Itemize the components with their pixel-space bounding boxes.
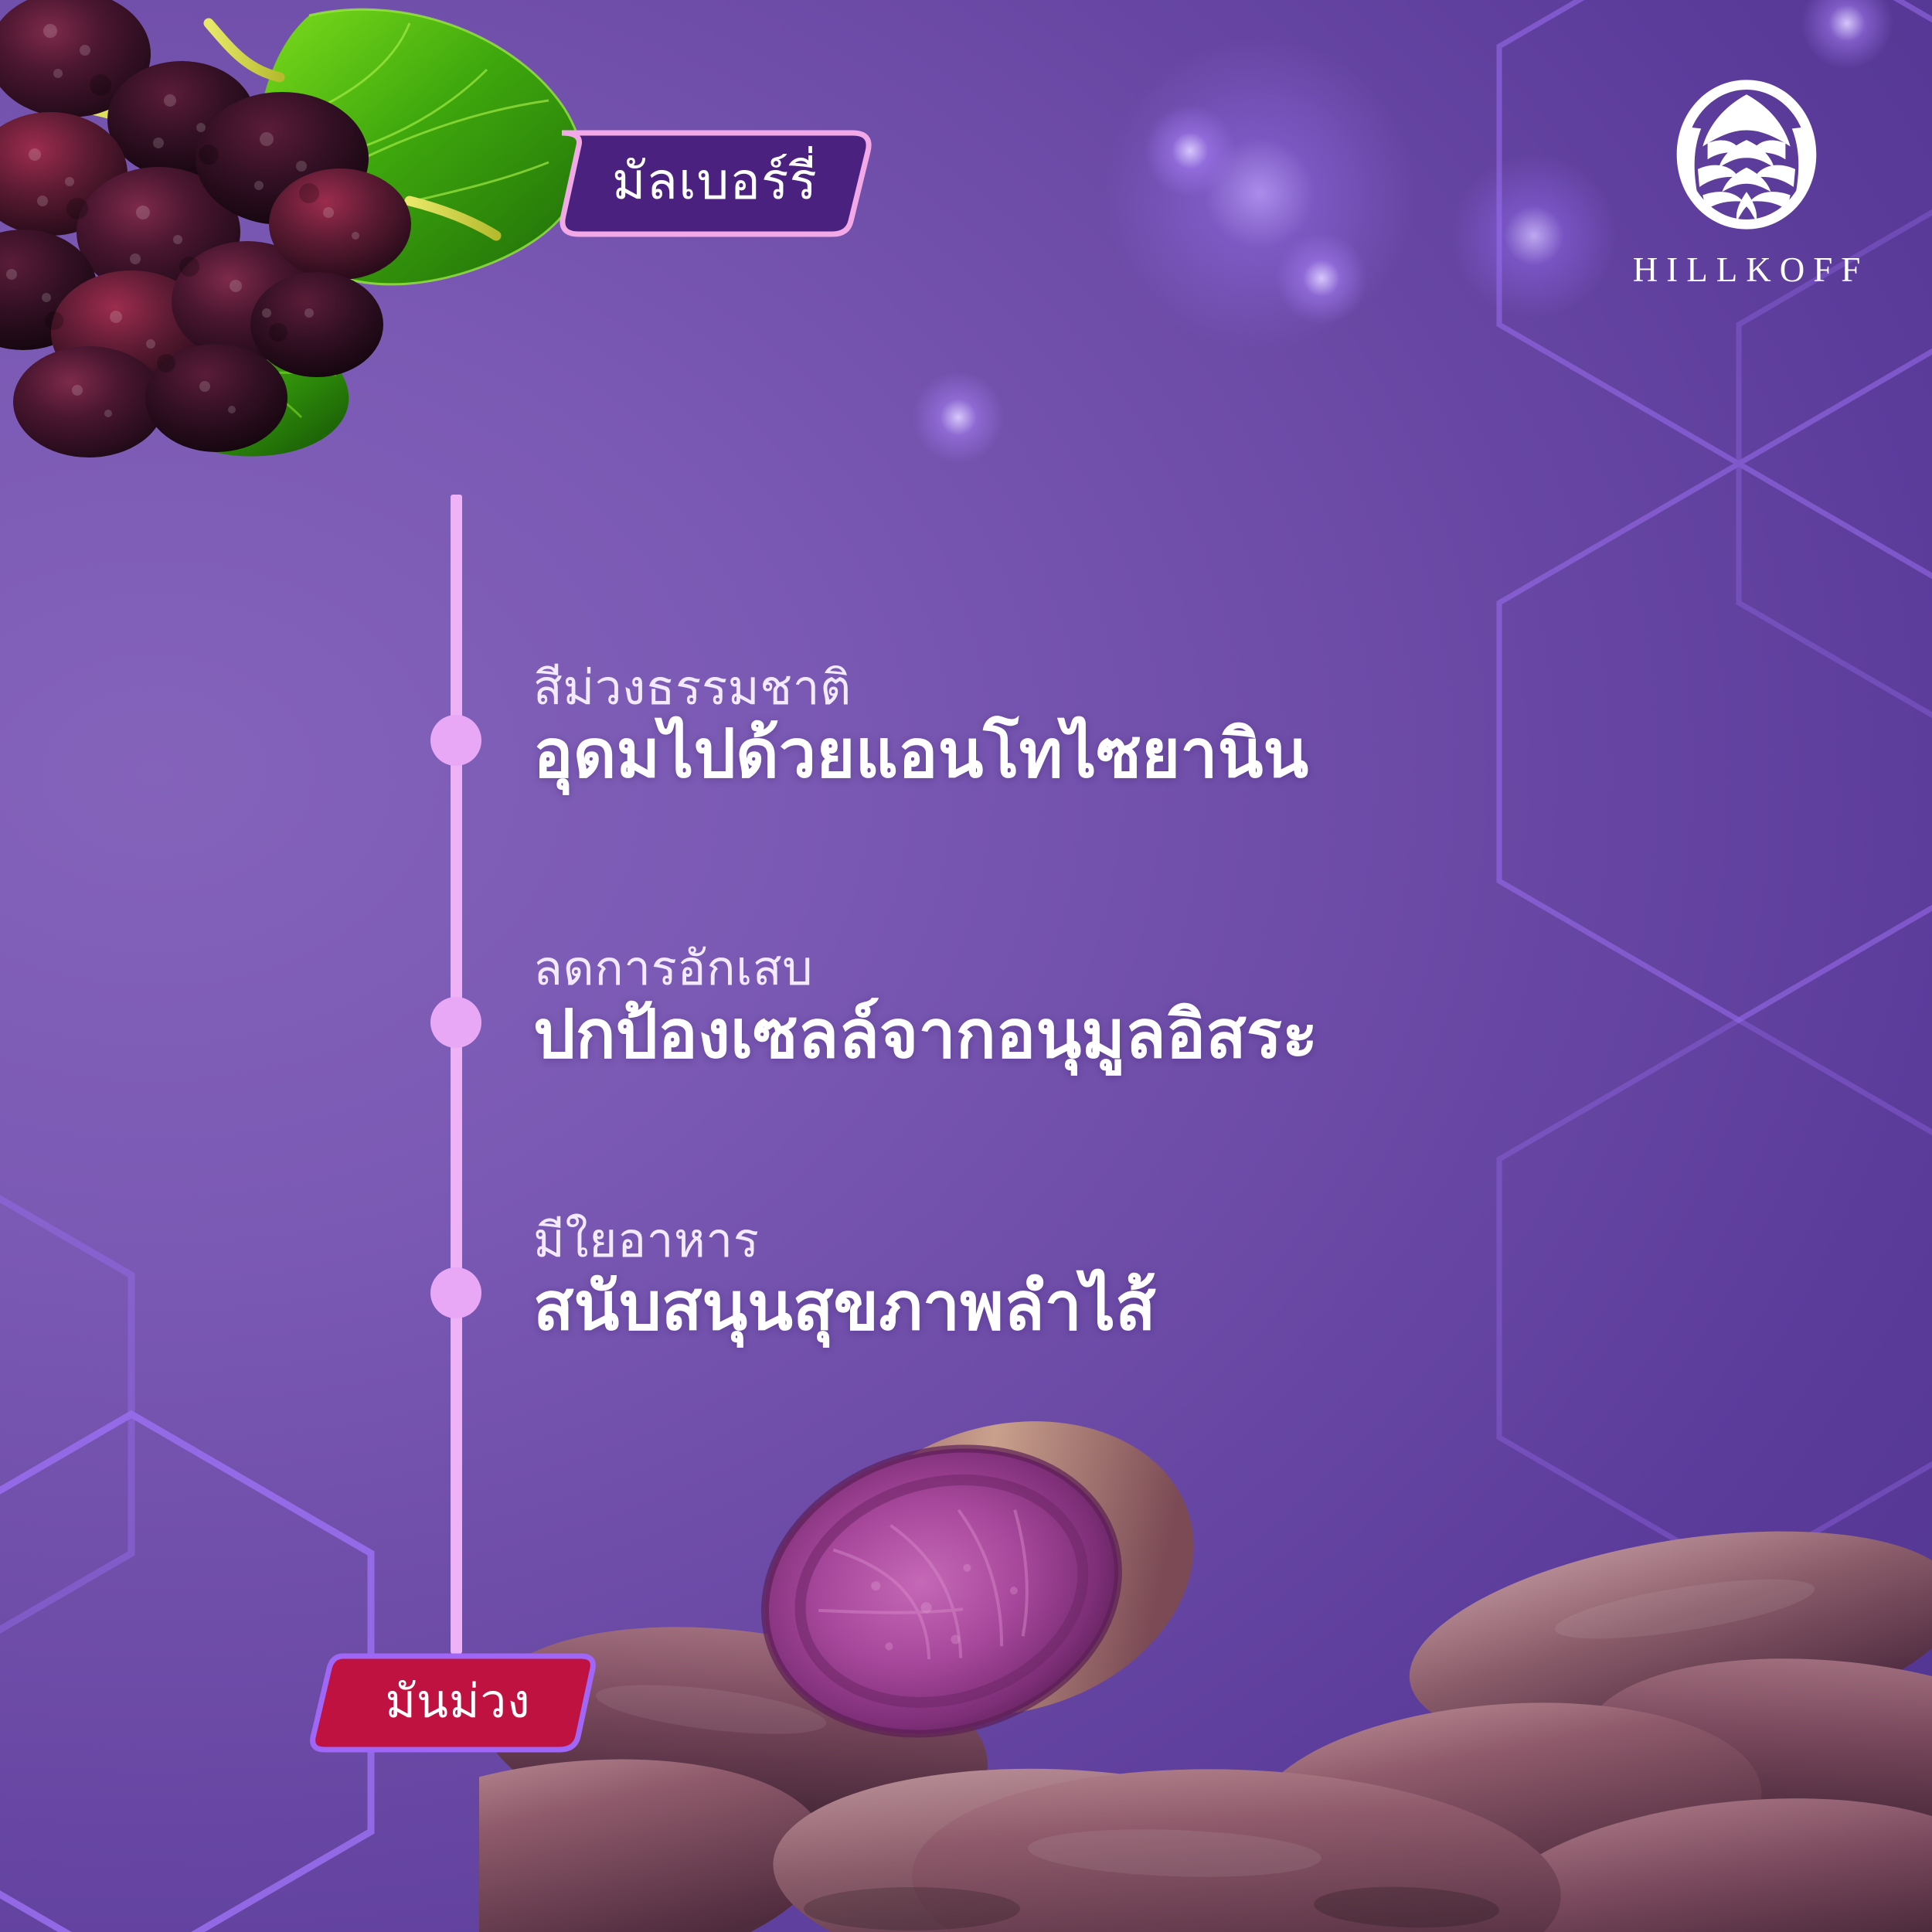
promo-graphic: HILLKOFF มัลเบอร์รี่ มันม่วง สีม่วงธรรมช… [0,0,1932,1932]
hillkoff-emblem-icon [1665,73,1828,236]
timeline-line [451,495,462,1654]
bokeh-glow-small-3 [912,371,1005,464]
bokeh-glow-small-4 [1801,0,1893,70]
bokeh-glow-small-1 [1144,104,1236,197]
badge-sweet-potato[interactable]: มันม่วง [309,1650,607,1756]
timeline-dot-1 [430,715,481,766]
feature-2-headline: ปกป้องเซลล์จากอนุมูลอิสระ [533,998,1318,1072]
purple-sweet-potato-image [479,1406,1932,1932]
feature-block-2: ลดการอักเสบ ปกป้องเซลล์จากอนุมูลอิสระ [533,941,1318,1073]
feature-3-headline: สนับสนุนสุขภาพลำไส้ [533,1270,1156,1344]
bokeh-glow-small-2 [1275,232,1368,325]
feature-block-1: สีม่วงธรรมชาติ อุดมไปด้วยแอนโทไซยานิน [533,661,1308,792]
timeline-dot-2 [430,997,481,1048]
feature-2-subtitle: ลดการอักเสบ [533,941,1318,995]
brand-lockup: HILLKOFF [1623,73,1870,290]
bokeh-glow-medium [1453,155,1615,317]
mulberry-cluster-image [0,0,796,587]
feature-3-subtitle: มีใยอาหาร [533,1213,1156,1267]
badge-mulberry-label: มัลเบอร์รี่ [612,141,818,226]
feature-block-3: มีใยอาหาร สนับสนุนสุขภาพลำไส้ [533,1213,1156,1345]
brand-name: HILLKOFF [1624,250,1869,290]
badge-mulberry[interactable]: มัลเบอร์รี่ [545,124,885,243]
bokeh-glow-large [1097,31,1422,355]
badge-sweet-potato-label: มันม่วง [385,1665,530,1741]
timeline-dot-3 [430,1267,481,1318]
feature-1-subtitle: สีม่วงธรรมชาติ [533,661,1308,714]
feature-1-headline: อุดมไปด้วยแอนโทไซยานิน [533,717,1308,791]
